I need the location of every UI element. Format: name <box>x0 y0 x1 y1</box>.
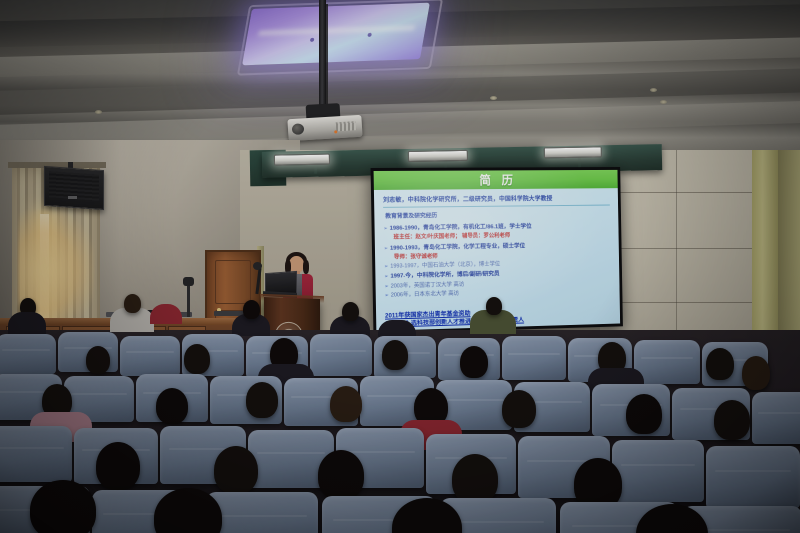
auditorium-seat[interactable] <box>206 492 318 533</box>
audience-member <box>714 400 750 440</box>
fluorescent-tube-light <box>408 150 468 162</box>
audience-member <box>382 340 408 370</box>
audience-member <box>246 382 278 418</box>
slide-subheading: 教育背景及研究经历 <box>385 208 610 219</box>
auditorium-seat[interactable] <box>502 336 566 380</box>
audience-member <box>626 394 662 434</box>
projector-vent <box>336 121 357 131</box>
speaker-badge <box>68 196 77 199</box>
audience-member <box>243 300 260 319</box>
bullet-arrow-icon: ➢ <box>384 283 388 289</box>
audience-member <box>124 294 141 313</box>
counter-microphone <box>183 277 194 286</box>
projector-cable <box>326 4 342 116</box>
bullet-text: 2006年，日本东北大学 高访 <box>391 289 459 299</box>
audience-member <box>214 446 258 494</box>
auditorium-seat[interactable] <box>0 334 56 374</box>
slide-title: 简 历 <box>479 171 517 188</box>
bullet-text-accent: 导师：张守诚老师 <box>394 252 438 261</box>
bullet-arrow-icon: ➢ <box>384 264 388 270</box>
audience-member <box>150 304 182 324</box>
fluorescent-tube-light <box>274 154 330 166</box>
audience-member <box>184 344 210 374</box>
slide-lead-line: 刘志敏，中科院化学研究所，二级研究员，中国科学院大学教授 <box>383 193 610 208</box>
auditorium-seat[interactable] <box>706 446 800 508</box>
bullet-text: 1986-1990，青岛化工学院，有机化工/86.1班，学士学位 <box>390 221 532 232</box>
audience-member <box>86 346 110 374</box>
recessed-downlight-icon <box>660 100 667 104</box>
bullet-text-accent: 班主任：赵文/叶庆国老师； 辅导员：罗公利老师 <box>393 231 510 241</box>
audience-member <box>342 302 359 321</box>
audience-member <box>742 356 770 390</box>
projector-status-led <box>334 130 337 133</box>
counter-microphone-stand <box>187 283 190 317</box>
lecture-hall-photo: 简 历 刘志敏，中科院化学研究所，二级研究员，中国科学院大学教授 教育背景及研究… <box>0 0 800 533</box>
recessed-downlight-icon <box>650 88 657 92</box>
audience-member <box>96 442 140 490</box>
audience-member <box>318 450 364 500</box>
seating-area <box>0 330 800 533</box>
podium-microphone <box>253 262 262 270</box>
audience-member <box>502 390 536 428</box>
slide-body: 刘志敏，中科院化学研究所，二级研究员，中国科学院大学教授 教育背景及研究经历 ➢… <box>374 188 620 299</box>
wall-speaker <box>44 166 104 210</box>
bullet-arrow-icon: ➢ <box>384 274 388 280</box>
auditorium-seat[interactable] <box>612 440 704 502</box>
audience-member <box>330 386 362 422</box>
auditorium-seat[interactable] <box>752 392 800 444</box>
audience-member <box>30 480 96 533</box>
audience-member <box>460 346 488 378</box>
audience-member <box>452 454 498 504</box>
audience-member <box>156 388 188 424</box>
projector-mount-pole <box>319 0 326 120</box>
bullet-arrow-icon: ➢ <box>383 226 387 232</box>
audience-member <box>8 312 46 334</box>
projector-lens-icon <box>292 123 305 135</box>
auditorium-seat[interactable] <box>310 334 372 376</box>
audience-member <box>486 297 502 315</box>
audience-member <box>706 348 734 380</box>
slide-title-bar: 简 历 <box>374 170 618 190</box>
bullet-arrow-icon: ➢ <box>384 245 388 251</box>
presenter-hair-side <box>303 260 309 274</box>
recessed-downlight-icon <box>490 96 497 100</box>
auditorium-seat[interactable] <box>634 340 700 384</box>
auditorium-seat[interactable] <box>120 336 180 376</box>
bullet-text: 2003年，英国诺丁汉大学 高访 <box>391 280 465 290</box>
auditorium-seat[interactable] <box>0 426 72 482</box>
ceiling-projector <box>287 115 362 141</box>
bullet-arrow-icon: ➢ <box>385 293 389 299</box>
recessed-downlight-icon <box>95 110 102 114</box>
fluorescent-tube-light <box>544 146 602 158</box>
